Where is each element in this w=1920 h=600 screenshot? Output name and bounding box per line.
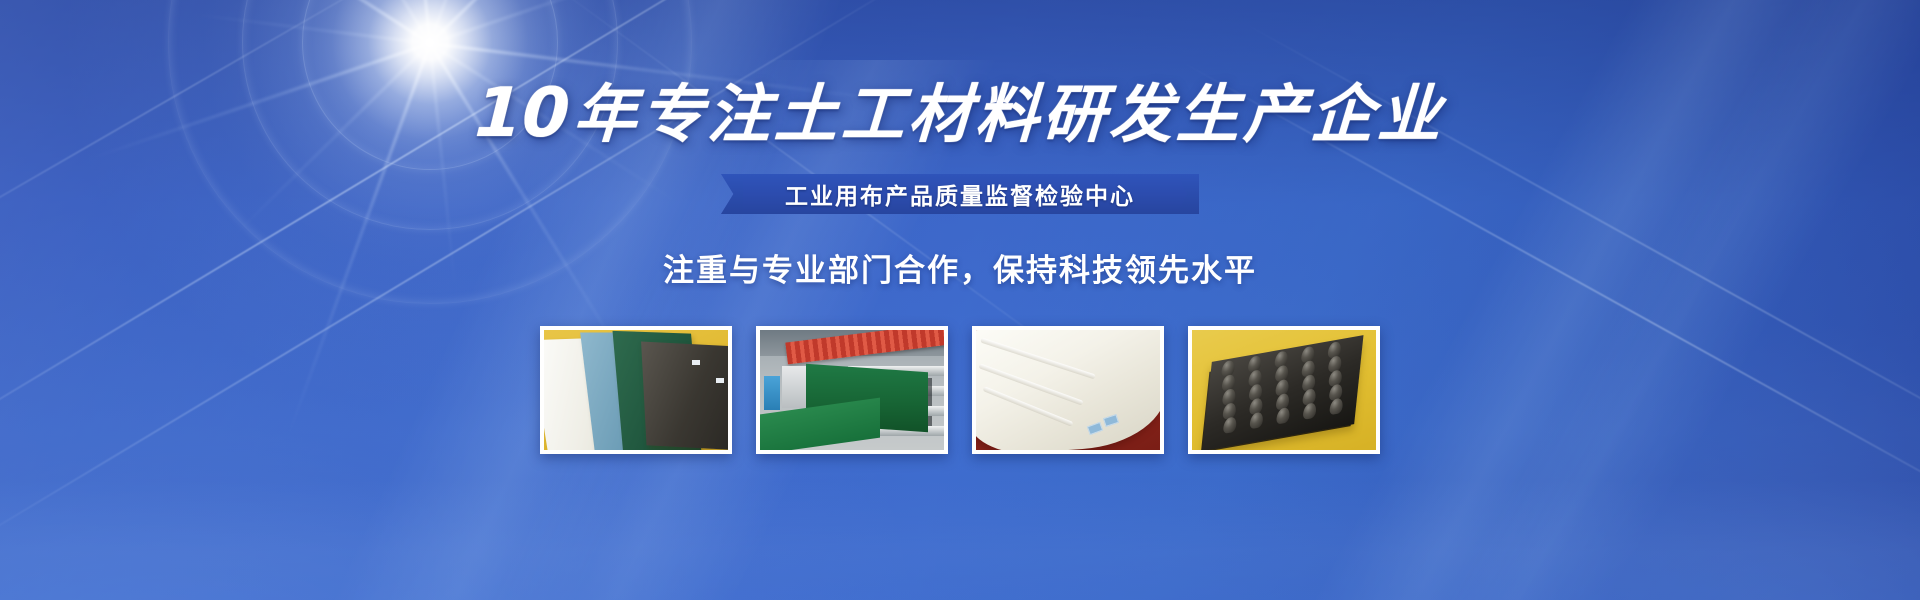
gallery-item-drainage-board[interactable] <box>1188 326 1380 454</box>
photo-production-line <box>760 330 944 450</box>
page-title: 10年专注土工材料研发生产企业 <box>473 80 1446 148</box>
ribbon-row: 工业用布产品质量监督检验中心 <box>721 173 1199 215</box>
hero-banner: 10年专注土工材料研发生产企业 工业用布产品质量监督检验中心 注重与专业部门合作… <box>0 0 1920 600</box>
gallery-item-geomembrane-sheets[interactable] <box>540 326 732 454</box>
control-panel-blue <box>764 376 780 410</box>
ribbon-label: 工业用布产品质量监督检验中心 <box>785 177 1135 211</box>
sheet-black <box>641 341 728 450</box>
gallery-item-nonwoven-geotextile[interactable] <box>972 326 1164 454</box>
sheet-tag <box>716 378 724 383</box>
photo-drainage-board <box>1192 330 1376 450</box>
tagline: 注重与专业部门合作，保持科技领先水平 <box>663 245 1257 290</box>
banner-content: 10年专注土工材料研发生产企业 工业用布产品质量监督检验中心 注重与专业部门合作… <box>0 0 1920 600</box>
headline-number: 10 <box>473 74 576 153</box>
product-gallery <box>540 326 1380 454</box>
gallery-item-production-line[interactable] <box>756 326 948 454</box>
photo-nonwoven-geotextile <box>976 330 1160 450</box>
sheet-tag <box>692 360 700 365</box>
headline-text: 年专注土工材料研发生产企业 <box>572 78 1447 151</box>
certification-ribbon: 工业用布产品质量监督检验中心 <box>721 174 1199 214</box>
photo-geomembrane-sheets <box>544 330 728 450</box>
